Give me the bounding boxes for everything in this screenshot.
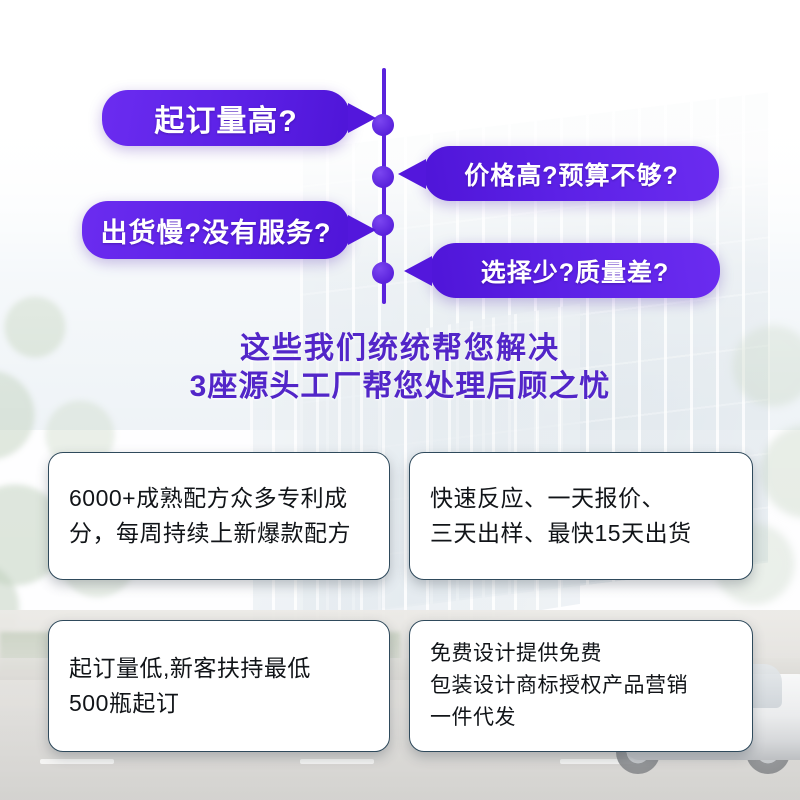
pain-point-label: 起订量高? bbox=[154, 96, 297, 140]
timeline-dot-2 bbox=[372, 166, 394, 188]
feature-card-line: 起订量低,新客扶持最低 bbox=[69, 651, 369, 686]
pain-point-bubble-3[interactable]: 价格高?预算不够? bbox=[424, 146, 719, 201]
feature-card-line: 免费设计提供免费 bbox=[430, 638, 732, 670]
bubble-tail-icon bbox=[348, 215, 376, 245]
pain-point-bubble-2[interactable]: 出货慢?没有服务? bbox=[82, 201, 350, 259]
feature-card-line: 500瓶起订 bbox=[69, 686, 369, 721]
feature-card-design-service[interactable]: 免费设计提供免费 包装设计商标授权产品营销 一件代发 bbox=[409, 620, 753, 752]
pain-point-label: 选择少?质量差? bbox=[481, 253, 670, 289]
pain-point-label: 价格高?预算不够? bbox=[464, 156, 679, 192]
headline-line-1: 这些我们统统帮您解决 bbox=[0, 330, 800, 368]
headline-line-2: 3座源头工厂帮您处理后顾之忧 bbox=[0, 368, 800, 406]
pain-point-label: 出货慢?没有服务? bbox=[101, 211, 332, 250]
infographic-canvas: 起订量高? 出货慢?没有服务? 价格高?预算不够? 选择少?质量差? 这些我们统… bbox=[0, 0, 800, 800]
feature-card-line: 包装设计商标授权产品营销 bbox=[430, 670, 732, 702]
pain-point-bubble-1[interactable]: 起订量高? bbox=[102, 90, 350, 146]
feature-card-line: 三天出样、最快15天出货 bbox=[430, 516, 732, 551]
feature-card-line: 6000+成熟配方众多专利成 bbox=[69, 481, 369, 516]
timeline-dot-4 bbox=[372, 262, 394, 284]
bubble-tail-icon bbox=[348, 103, 376, 133]
feature-card-moq[interactable]: 起订量低,新客扶持最低 500瓶起订 bbox=[48, 620, 390, 752]
feature-card-line: 一件代发 bbox=[430, 702, 732, 734]
feature-card-line: 快速反应、一天报价、 bbox=[430, 481, 732, 516]
feature-card-line: 分，每周持续上新爆款配方 bbox=[69, 516, 369, 551]
bubble-tail-icon bbox=[398, 159, 426, 189]
feature-card-speed[interactable]: 快速反应、一天报价、 三天出样、最快15天出货 bbox=[409, 452, 753, 580]
bubble-tail-icon bbox=[404, 256, 432, 286]
feature-card-formulas[interactable]: 6000+成熟配方众多专利成 分，每周持续上新爆款配方 bbox=[48, 452, 390, 580]
headline-block: 这些我们统统帮您解决 3座源头工厂帮您处理后顾之忧 bbox=[0, 330, 800, 407]
pain-point-bubble-4[interactable]: 选择少?质量差? bbox=[430, 243, 720, 298]
